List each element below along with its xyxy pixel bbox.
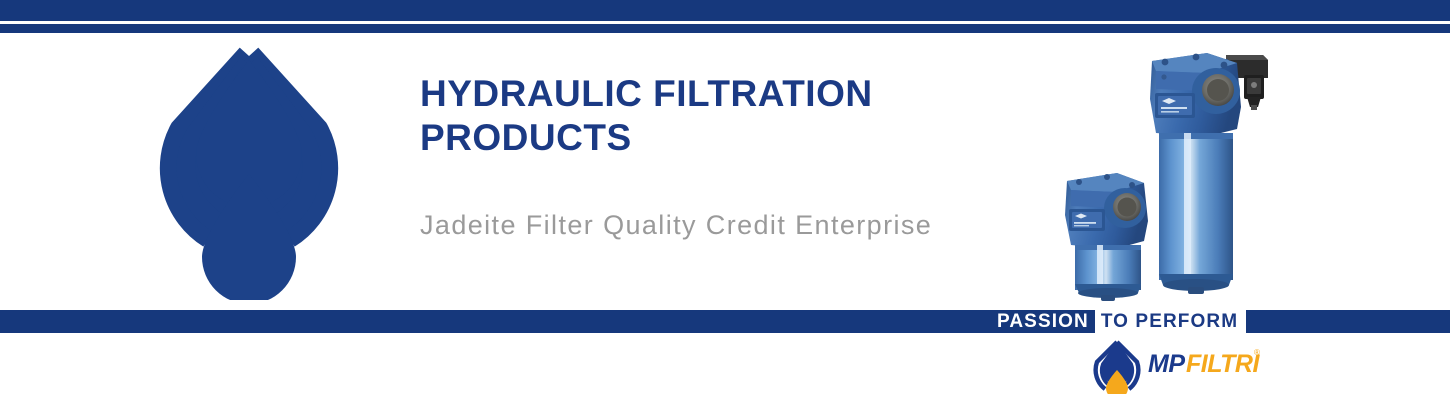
registered-mark: ® bbox=[1254, 348, 1260, 357]
top-rule-thick bbox=[0, 0, 1450, 21]
tagline-to-perform: TO PERFORM bbox=[1095, 310, 1246, 333]
headline-block: HYDRAULIC FILTRATION PRODUCTS bbox=[420, 72, 1040, 160]
mp-wordmark: MP bbox=[1148, 350, 1185, 378]
mp-filtri-logo: MP FILTRI ® bbox=[1078, 338, 1263, 394]
jadeite-filter-logo bbox=[118, 42, 380, 300]
tagline-passion: PASSION bbox=[993, 310, 1095, 333]
filtri-wordmark: FILTRI bbox=[1186, 350, 1260, 378]
page-subtitle: Jadeite Filter Quality Credit Enterprise bbox=[420, 208, 932, 242]
product-photo bbox=[1055, 33, 1325, 310]
short-filter-housing bbox=[1065, 173, 1148, 301]
tall-filter-housing bbox=[1150, 53, 1268, 294]
hydraulic-filtration-banner: HYDRAULIC FILTRATION PRODUCTS Jadeite Fi… bbox=[0, 0, 1450, 400]
page-title: HYDRAULIC FILTRATION PRODUCTS bbox=[420, 72, 1040, 160]
tagline: PASSION TO PERFORM bbox=[993, 310, 1246, 333]
short-filter-bowl bbox=[1075, 245, 1141, 290]
top-rule-thin bbox=[0, 24, 1450, 33]
tall-filter-bowl bbox=[1159, 133, 1233, 280]
